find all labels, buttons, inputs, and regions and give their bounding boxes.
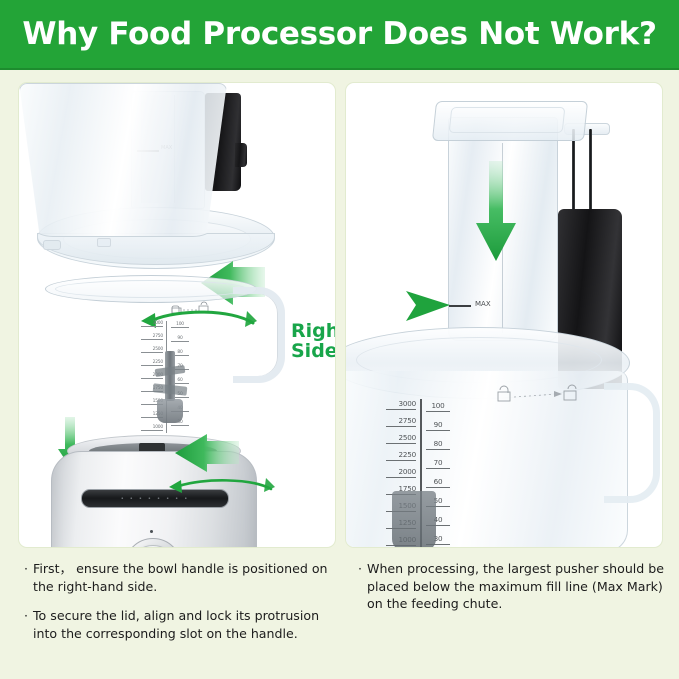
- bowl-handle: [604, 383, 660, 503]
- scale-ml-tick: 2750: [141, 334, 163, 340]
- max-mark-label: MAX: [475, 300, 491, 308]
- blade-assembly: [153, 351, 187, 429]
- caption-text: First， ensure the bowl handle is positio…: [33, 560, 330, 595]
- right-side-callout: Right Side: [291, 321, 336, 361]
- scale-ml-tick: 2750: [386, 416, 416, 427]
- left-illustration-panel: MAX: [18, 82, 336, 548]
- lock-indicator-icons: [496, 383, 586, 405]
- pusher-rod-left: [572, 129, 575, 213]
- base-rotate-arrow-icon: [167, 475, 277, 497]
- caption-bullet-item: · First， ensure the bowl handle is posit…: [24, 560, 330, 595]
- scale-oz-tick: 70: [426, 458, 450, 469]
- caption-bullet-item: · When processing, the largest pusher sh…: [358, 560, 666, 613]
- scale-oz-tick: 100: [171, 322, 189, 328]
- base-align-arrow-icon: [169, 433, 241, 481]
- left-illustration: MAX: [19, 83, 335, 547]
- bullet-marker: ·: [24, 607, 33, 642]
- knob-indicator-dot: [150, 530, 153, 533]
- processing-bowl: [19, 83, 227, 237]
- bowl-rim-inner: [55, 280, 247, 298]
- right-illustration-panel: MAX 3000 2750 2500 2250: [345, 82, 663, 548]
- scale-oz-tick: 60: [426, 477, 450, 488]
- scale-oz-tick: 100: [426, 401, 450, 412]
- blade-wing-lower: [153, 383, 188, 396]
- scale-ml-tick: 3000: [141, 321, 163, 327]
- caption-text: To secure the lid, align and lock its pr…: [33, 607, 330, 642]
- max-fill-mark: MAX: [449, 301, 519, 311]
- pusher-rods: [570, 129, 598, 213]
- scale-ml-tick: 3000: [386, 399, 416, 410]
- feed-chute-opening-inner: [449, 107, 566, 133]
- max-mark-arrow-icon: [404, 289, 452, 323]
- right-side-callout-line2: Side: [291, 341, 336, 361]
- caption-text: When processing, the largest pusher shou…: [367, 560, 666, 613]
- scale-oz-tick: 90: [171, 336, 189, 342]
- pusher-down-arrow-icon: [474, 161, 518, 265]
- page-title: Why Food Processor Does Not Work?: [22, 16, 656, 52]
- blade-hub: [157, 399, 183, 423]
- max-mark-line: [449, 305, 471, 307]
- pusher-handle-tab: [235, 143, 247, 167]
- blade-assembly: [392, 491, 436, 548]
- bullet-marker: ·: [358, 560, 367, 613]
- header-banner: Why Food Processor Does Not Work?: [0, 0, 679, 70]
- caption-bullet-item: · To secure the lid, align and lock its …: [24, 607, 330, 642]
- scale-ml-tick: 2500: [386, 433, 416, 444]
- left-panel-captions: · First， ensure the bowl handle is posit…: [24, 560, 330, 642]
- pusher-rod-right: [589, 129, 592, 213]
- right-illustration: MAX 3000 2750 2500 2250: [346, 83, 662, 547]
- lid-tab-middle: [97, 238, 111, 247]
- right-side-callout-line1: Right: [291, 321, 336, 341]
- panels-container: MAX: [0, 76, 679, 554]
- scale-oz-tick: 80: [426, 439, 450, 450]
- right-panel-captions: · When processing, the largest pusher sh…: [358, 560, 666, 613]
- scale-ml-tick: 2000: [386, 467, 416, 478]
- bullet-marker: ·: [24, 560, 33, 595]
- scale-ml-tick: 2250: [386, 450, 416, 461]
- lid-tab-left: [43, 240, 61, 250]
- scale-oz-tick: 90: [426, 420, 450, 431]
